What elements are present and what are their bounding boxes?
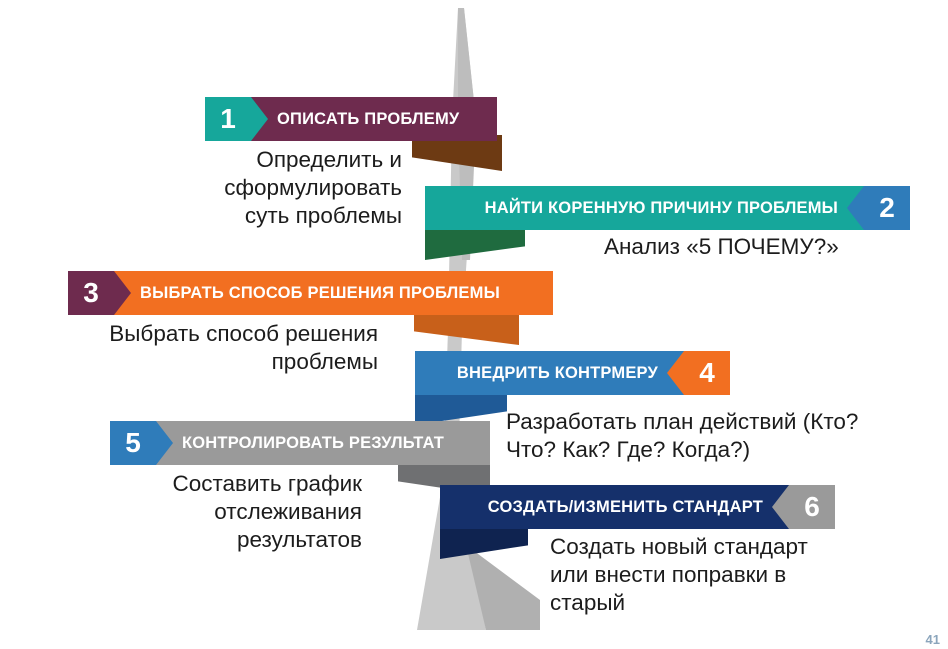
step-1-label-bar: ОПИСАТЬ ПРОБЛЕМУ (251, 97, 497, 141)
step-3: 3 ВЫБРАТЬ СПОСОБ РЕШЕНИЯ ПРОБЛЕМЫ (68, 271, 553, 315)
step-6: СОЗДАТЬ/ИЗМЕНИТЬ СТАНДАРТ 6 (440, 485, 835, 529)
step-5: 5 КОНТРОЛИРОВАТЬ РЕЗУЛЬТАТ (110, 421, 490, 465)
step-3-number: 3 (83, 279, 99, 307)
step-1: 1 ОПИСАТЬ ПРОБЛЕМУ (205, 97, 497, 141)
step-2-number: 2 (879, 194, 895, 222)
infographic-canvas: 1 ОПИСАТЬ ПРОБЛЕМУ Определить и сформули… (0, 0, 948, 649)
step-3-label: ВЫБРАТЬ СПОСОБ РЕШЕНИЯ ПРОБЛЕМЫ (140, 284, 500, 303)
step-5-label-bar: КОНТРОЛИРОВАТЬ РЕЗУЛЬТАТ (156, 421, 490, 465)
step-2-label-bar: НАЙТИ КОРЕННУЮ ПРИЧИНУ ПРОБЛЕМЫ (425, 186, 864, 230)
step-1-number-box: 1 (205, 97, 251, 141)
step-4-number-box: 4 (684, 351, 730, 395)
step-4-label: ВНЕДРИТЬ КОНТРМЕРУ (457, 364, 658, 383)
step-4-number: 4 (699, 359, 715, 387)
step-6-number-box: 6 (789, 485, 835, 529)
step-1-label: ОПИСАТЬ ПРОБЛЕМУ (277, 110, 459, 129)
step-5-caption: Составить график отслеживания результато… (96, 470, 362, 554)
step-3-label-bar: ВЫБРАТЬ СПОСОБ РЕШЕНИЯ ПРОБЛЕМЫ (114, 271, 553, 315)
step-2-banner[interactable]: НАЙТИ КОРЕННУЮ ПРИЧИНУ ПРОБЛЕМЫ 2 (425, 186, 910, 230)
step-2-caption: Анализ «5 ПОЧЕМУ?» (604, 233, 934, 261)
step-3-banner[interactable]: 3 ВЫБРАТЬ СПОСОБ РЕШЕНИЯ ПРОБЛЕМЫ (68, 271, 553, 315)
step-4-banner[interactable]: ВНЕДРИТЬ КОНТРМЕРУ 4 (415, 351, 730, 395)
step-1-banner[interactable]: 1 ОПИСАТЬ ПРОБЛЕМУ (205, 97, 497, 141)
step-5-label: КОНТРОЛИРОВАТЬ РЕЗУЛЬТАТ (182, 434, 444, 453)
step-1-caption: Определить и сформулировать суть проблем… (170, 146, 402, 230)
step-5-banner[interactable]: 5 КОНТРОЛИРОВАТЬ РЕЗУЛЬТАТ (110, 421, 490, 465)
step-2-label: НАЙТИ КОРЕННУЮ ПРИЧИНУ ПРОБЛЕМЫ (485, 199, 838, 218)
page-number-mark: 41 (926, 632, 940, 647)
step-4-caption: Разработать план действий (Кто? Что? Как… (506, 408, 926, 464)
step-1-number: 1 (220, 105, 236, 133)
step-6-label-bar: СОЗДАТЬ/ИЗМЕНИТЬ СТАНДАРТ (440, 485, 789, 529)
step-3-number-box: 3 (68, 271, 114, 315)
step-5-number: 5 (125, 429, 141, 457)
step-2-number-box: 2 (864, 186, 910, 230)
step-6-label: СОЗДАТЬ/ИЗМЕНИТЬ СТАНДАРТ (488, 498, 763, 517)
step-6-caption: Создать новый стандарт или внести поправ… (550, 533, 880, 617)
step-2: НАЙТИ КОРЕННУЮ ПРИЧИНУ ПРОБЛЕМЫ 2 (425, 186, 910, 230)
step-3-caption: Выбрать способ решения проблемы (48, 320, 378, 376)
step-6-number: 6 (804, 493, 820, 521)
step-4-label-bar: ВНЕДРИТЬ КОНТРМЕРУ (415, 351, 684, 395)
step-4: ВНЕДРИТЬ КОНТРМЕРУ 4 (415, 351, 730, 395)
step-6-banner[interactable]: СОЗДАТЬ/ИЗМЕНИТЬ СТАНДАРТ 6 (440, 485, 835, 529)
step-5-number-box: 5 (110, 421, 156, 465)
